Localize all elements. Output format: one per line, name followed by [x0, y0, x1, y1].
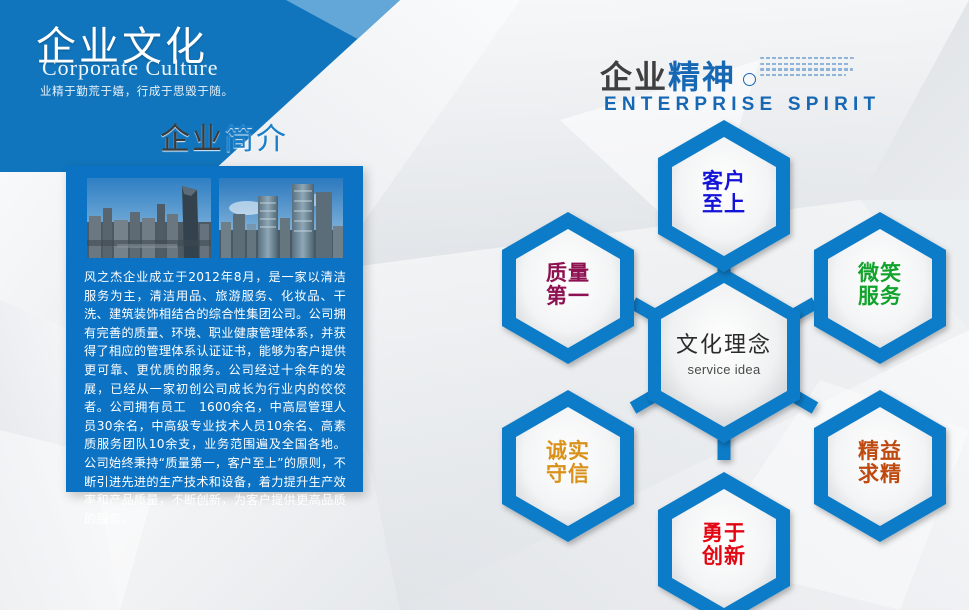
cityscape-photo-right — [219, 178, 343, 258]
banner-title-en: Corporate Culture — [42, 55, 218, 81]
center-label-en: service idea — [644, 362, 804, 377]
decorative-microtext — [760, 57, 856, 79]
spirit-dot-icon — [743, 73, 756, 86]
center-label-cn: 文化理念 — [644, 327, 804, 359]
photo-strip — [87, 178, 343, 258]
slide-canvas: 企业文化 Corporate Culture 业精于勤荒于嬉，行成于思毁于随。 … — [0, 0, 969, 610]
spirit-heading-blue: 精神 — [668, 58, 736, 96]
company-intro-card: 风之杰企业成立于2012年8月，是一家以清洁服务为主，清洁用品、旅游服务、化妆品… — [66, 166, 363, 492]
company-intro-heading-dark: 企业 — [160, 122, 224, 157]
spirit-heading-dark: 企业 — [600, 58, 668, 96]
culture-hexagon-diagram: 文化理念 service idea 客户 至上 微笑 服务 精益 求精 勇于 创… — [480, 100, 969, 610]
company-intro-heading-blue: 简介 — [224, 122, 288, 157]
company-intro-heading: 企业简介 — [160, 114, 288, 158]
cityscape-photo-left — [87, 178, 211, 258]
banner-motto: 业精于勤荒于嬉，行成于思毁于随。 — [40, 83, 234, 99]
company-intro-text: 风之杰企业成立于2012年8月，是一家以清洁服务为主，清洁用品、旅游服务、化妆品… — [84, 268, 346, 528]
